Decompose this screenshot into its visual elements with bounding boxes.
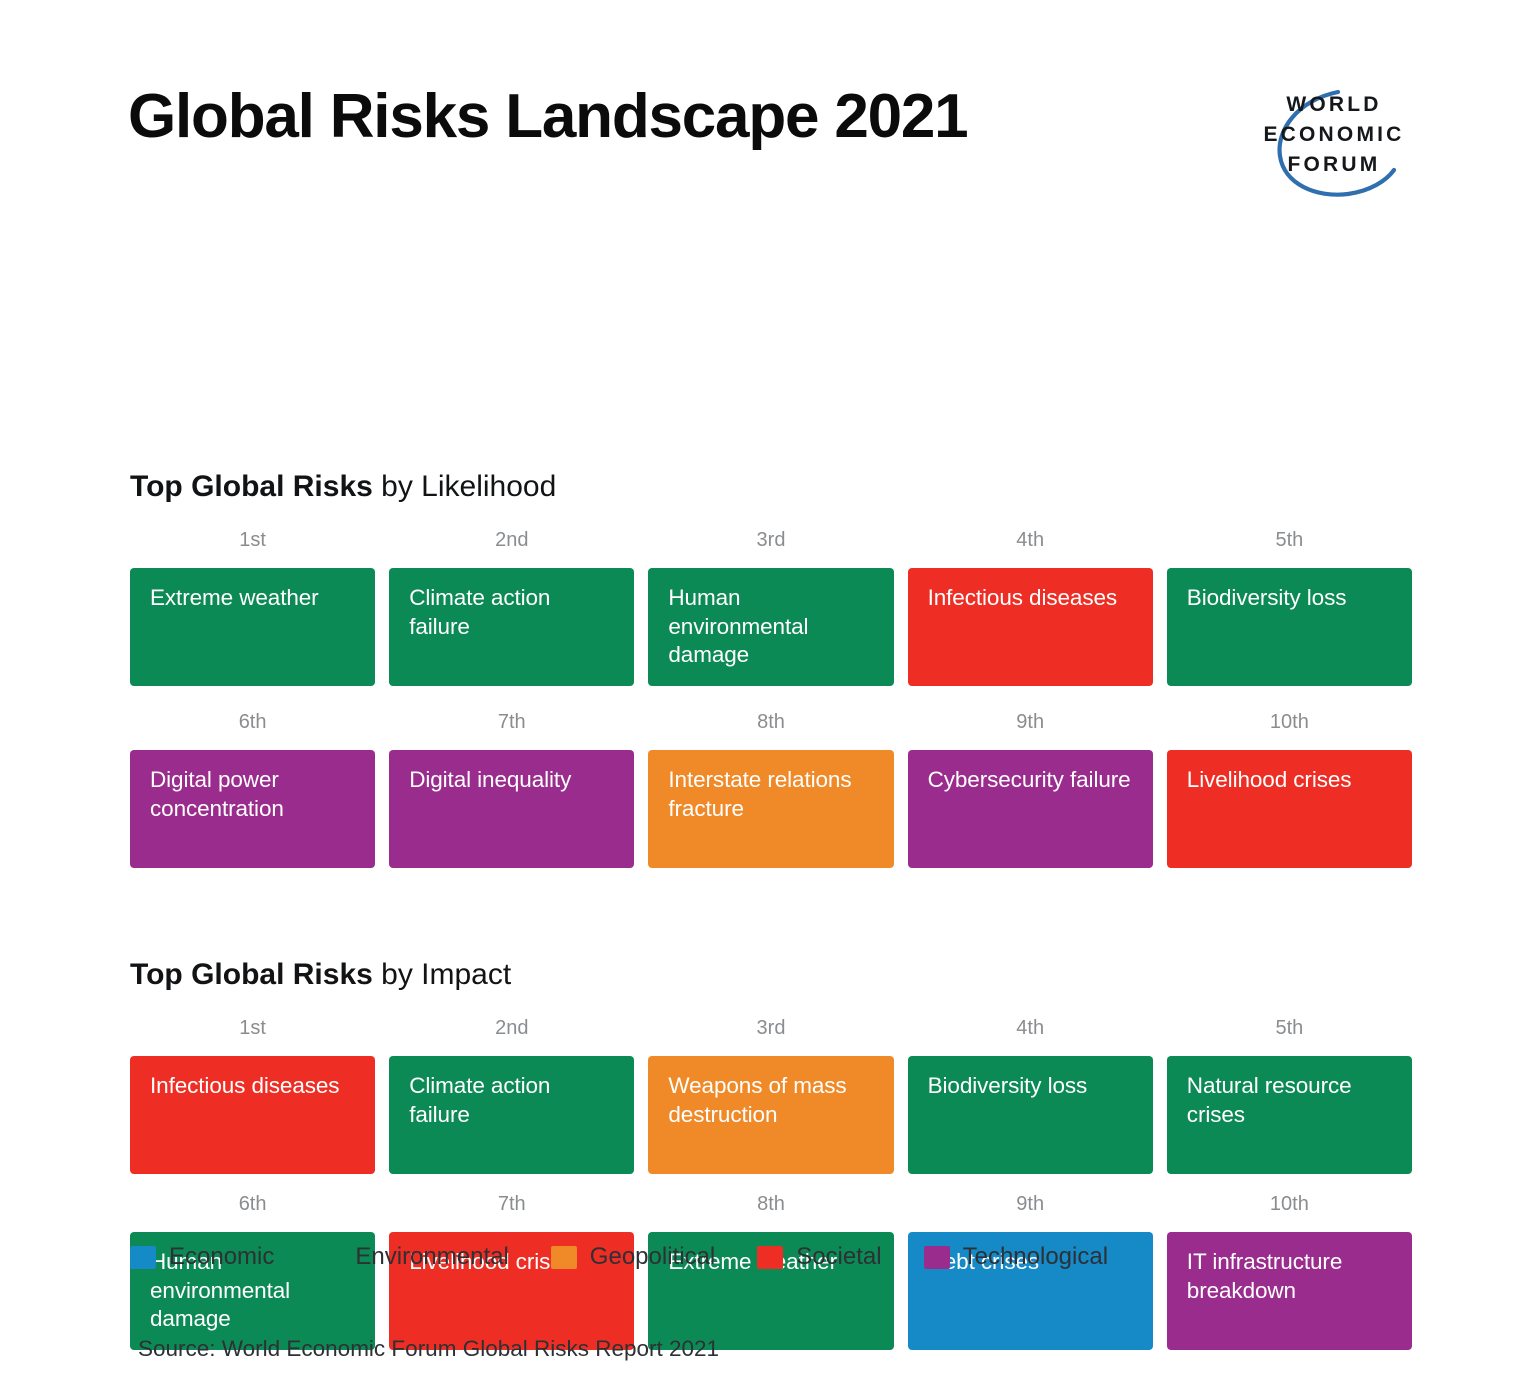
risk-cell: 6thDigital power concentration (130, 712, 375, 868)
risk-card-label: Cybersecurity failure (928, 766, 1135, 795)
risk-card-label: Weapons of mass destruction (668, 1072, 875, 1129)
risk-cell: 1stExtreme weather (130, 530, 375, 686)
legend-label: Environmental (355, 1245, 508, 1269)
risk-card[interactable]: Weapons of mass destruction (648, 1056, 893, 1174)
risk-card[interactable]: Human environmental damage (648, 568, 893, 686)
risk-cell: 4thInfectious diseases (908, 530, 1153, 686)
world-economic-forum-logo: WORLD ECONOMIC FORUM (1240, 84, 1424, 202)
heading-light-text: by Likelihood (373, 470, 556, 503)
risk-cell: 3rdHuman environmental damage (648, 530, 893, 686)
risk-cell: 9thDebt crises (908, 1194, 1153, 1350)
rank-label: 6th (130, 712, 375, 732)
rank-label: 1st (130, 530, 375, 550)
risk-card[interactable]: Extreme weather (130, 568, 375, 686)
risk-cell: 10thLivelihood crises (1167, 712, 1412, 868)
rank-label: 5th (1167, 530, 1412, 550)
risk-card[interactable]: Climate action failure (389, 568, 634, 686)
risk-cell: 2ndClimate action failure (389, 530, 634, 686)
risk-card-label: Livelihood crises (1187, 766, 1394, 795)
risk-cell: 5thNatural resource crises (1167, 1018, 1412, 1174)
legend-label: Geopolitical (590, 1245, 715, 1269)
risk-card-label: Infectious diseases (928, 584, 1135, 613)
rank-label: 5th (1167, 1018, 1412, 1038)
rank-label: 10th (1167, 712, 1412, 732)
section-heading-likelihood: Top Global Risks by Likelihood (130, 472, 556, 502)
rank-label: 10th (1167, 1194, 1412, 1214)
risk-card[interactable]: Natural resource crises (1167, 1056, 1412, 1174)
risk-cell: 7thLivelihood crises (389, 1194, 634, 1350)
risk-cell: 6thHuman environmental damage (130, 1194, 375, 1350)
rank-label: 8th (648, 712, 893, 732)
wef-line-1: WORLD (1254, 90, 1414, 120)
legend-item[interactable]: Economic (130, 1245, 274, 1269)
risk-card[interactable]: IT infrastructure breakdown (1167, 1232, 1412, 1350)
risk-card-label: Digital power concentration (150, 766, 357, 823)
legend-item[interactable]: Technological (924, 1245, 1108, 1269)
wef-line-3: FORUM (1254, 150, 1414, 180)
legend-item[interactable]: Environmental (316, 1245, 508, 1269)
risk-card[interactable]: Cybersecurity failure (908, 750, 1153, 868)
page-title: Global Risks Landscape 2021 (128, 86, 967, 148)
heading-bold-text: Top Global Risks (130, 470, 373, 503)
risk-card[interactable]: Climate action failure (389, 1056, 634, 1174)
risk-card-label: IT infrastructure breakdown (1187, 1248, 1394, 1305)
risk-grid-impact-row-1: 1stInfectious diseases2ndClimate action … (130, 1018, 1412, 1174)
risk-card[interactable]: Infectious diseases (130, 1056, 375, 1174)
risk-cell: 4thBiodiversity loss (908, 1018, 1153, 1174)
legend-swatch-economic (130, 1246, 156, 1269)
risk-cell: 2ndClimate action failure (389, 1018, 634, 1174)
rank-label: 9th (908, 712, 1153, 732)
category-legend: EconomicEnvironmentalGeopoliticalSocieta… (130, 1245, 1108, 1269)
risk-card-label: Extreme weather (150, 584, 357, 613)
risk-cell: 7thDigital inequality (389, 712, 634, 868)
risk-cell: 5thBiodiversity loss (1167, 530, 1412, 686)
wef-line-2: ECONOMIC (1254, 120, 1414, 150)
risk-card-label: Climate action failure (409, 1072, 616, 1129)
rank-label: 1st (130, 1018, 375, 1038)
legend-item[interactable]: Geopolitical (551, 1245, 715, 1269)
section-heading-impact: Top Global Risks by Impact (130, 960, 511, 990)
risk-card-label: Biodiversity loss (1187, 584, 1394, 613)
rank-label: 3rd (648, 530, 893, 550)
rank-label: 6th (130, 1194, 375, 1214)
legend-item[interactable]: Societal (757, 1245, 881, 1269)
risk-cell: 8thExtreme weather (648, 1194, 893, 1350)
risk-card-label: Biodiversity loss (928, 1072, 1135, 1101)
legend-label: Societal (796, 1245, 881, 1269)
risk-card-label: Digital inequality (409, 766, 616, 795)
risk-card[interactable]: Digital power concentration (130, 750, 375, 868)
rank-label: 3rd (648, 1018, 893, 1038)
risk-cell: 3rdWeapons of mass destruction (648, 1018, 893, 1174)
risk-card[interactable]: Livelihood crises (1167, 750, 1412, 868)
risk-card[interactable]: Infectious diseases (908, 568, 1153, 686)
risk-card[interactable]: Interstate relations fracture (648, 750, 893, 868)
risk-card-label: Climate action failure (409, 584, 616, 641)
risk-grid-likelihood-row-2: 6thDigital power concentration7thDigital… (130, 712, 1412, 868)
wef-wordmark: WORLD ECONOMIC FORUM (1254, 90, 1414, 179)
legend-label: Economic (169, 1245, 274, 1269)
risk-cell: 9thCybersecurity failure (908, 712, 1153, 868)
rank-label: 2nd (389, 530, 634, 550)
page-header: Global Risks Landscape 2021 WORLD ECONOM… (0, 0, 1536, 210)
heading-bold-text: Top Global Risks (130, 958, 373, 991)
risk-card-label: Interstate relations fracture (668, 766, 875, 823)
risk-card[interactable]: Digital inequality (389, 750, 634, 868)
risk-card-label: Natural resource crises (1187, 1072, 1394, 1129)
risk-card-label: Human environmental damage (668, 584, 875, 670)
risk-cell: 1stInfectious diseases (130, 1018, 375, 1174)
rank-label: 4th (908, 530, 1153, 550)
rank-label: 4th (908, 1018, 1153, 1038)
rank-label: 7th (389, 712, 634, 732)
rank-label: 9th (908, 1194, 1153, 1214)
rank-label: 7th (389, 1194, 634, 1214)
legend-swatch-geopolitical (551, 1246, 577, 1269)
rank-label: 2nd (389, 1018, 634, 1038)
risk-card[interactable]: Biodiversity loss (908, 1056, 1153, 1174)
risk-grid-impact-row-2: 6thHuman environmental damage7thLiveliho… (130, 1194, 1412, 1350)
risk-card[interactable]: Biodiversity loss (1167, 568, 1412, 686)
rank-label: 8th (648, 1194, 893, 1214)
risk-cell: 8thInterstate relations fracture (648, 712, 893, 868)
legend-swatch-technological (924, 1246, 950, 1269)
risk-grid-likelihood-row-1: 1stExtreme weather2ndClimate action fail… (130, 530, 1412, 686)
legend-swatch-societal (757, 1246, 783, 1269)
risk-cell: 10thIT infrastructure breakdown (1167, 1194, 1412, 1350)
legend-label: Technological (963, 1245, 1108, 1269)
risk-card-label: Infectious diseases (150, 1072, 357, 1101)
source-note: Source: World Economic Forum Global Risk… (138, 1338, 719, 1361)
legend-swatch-environmental (316, 1246, 342, 1269)
heading-light-text: by Impact (373, 958, 511, 991)
